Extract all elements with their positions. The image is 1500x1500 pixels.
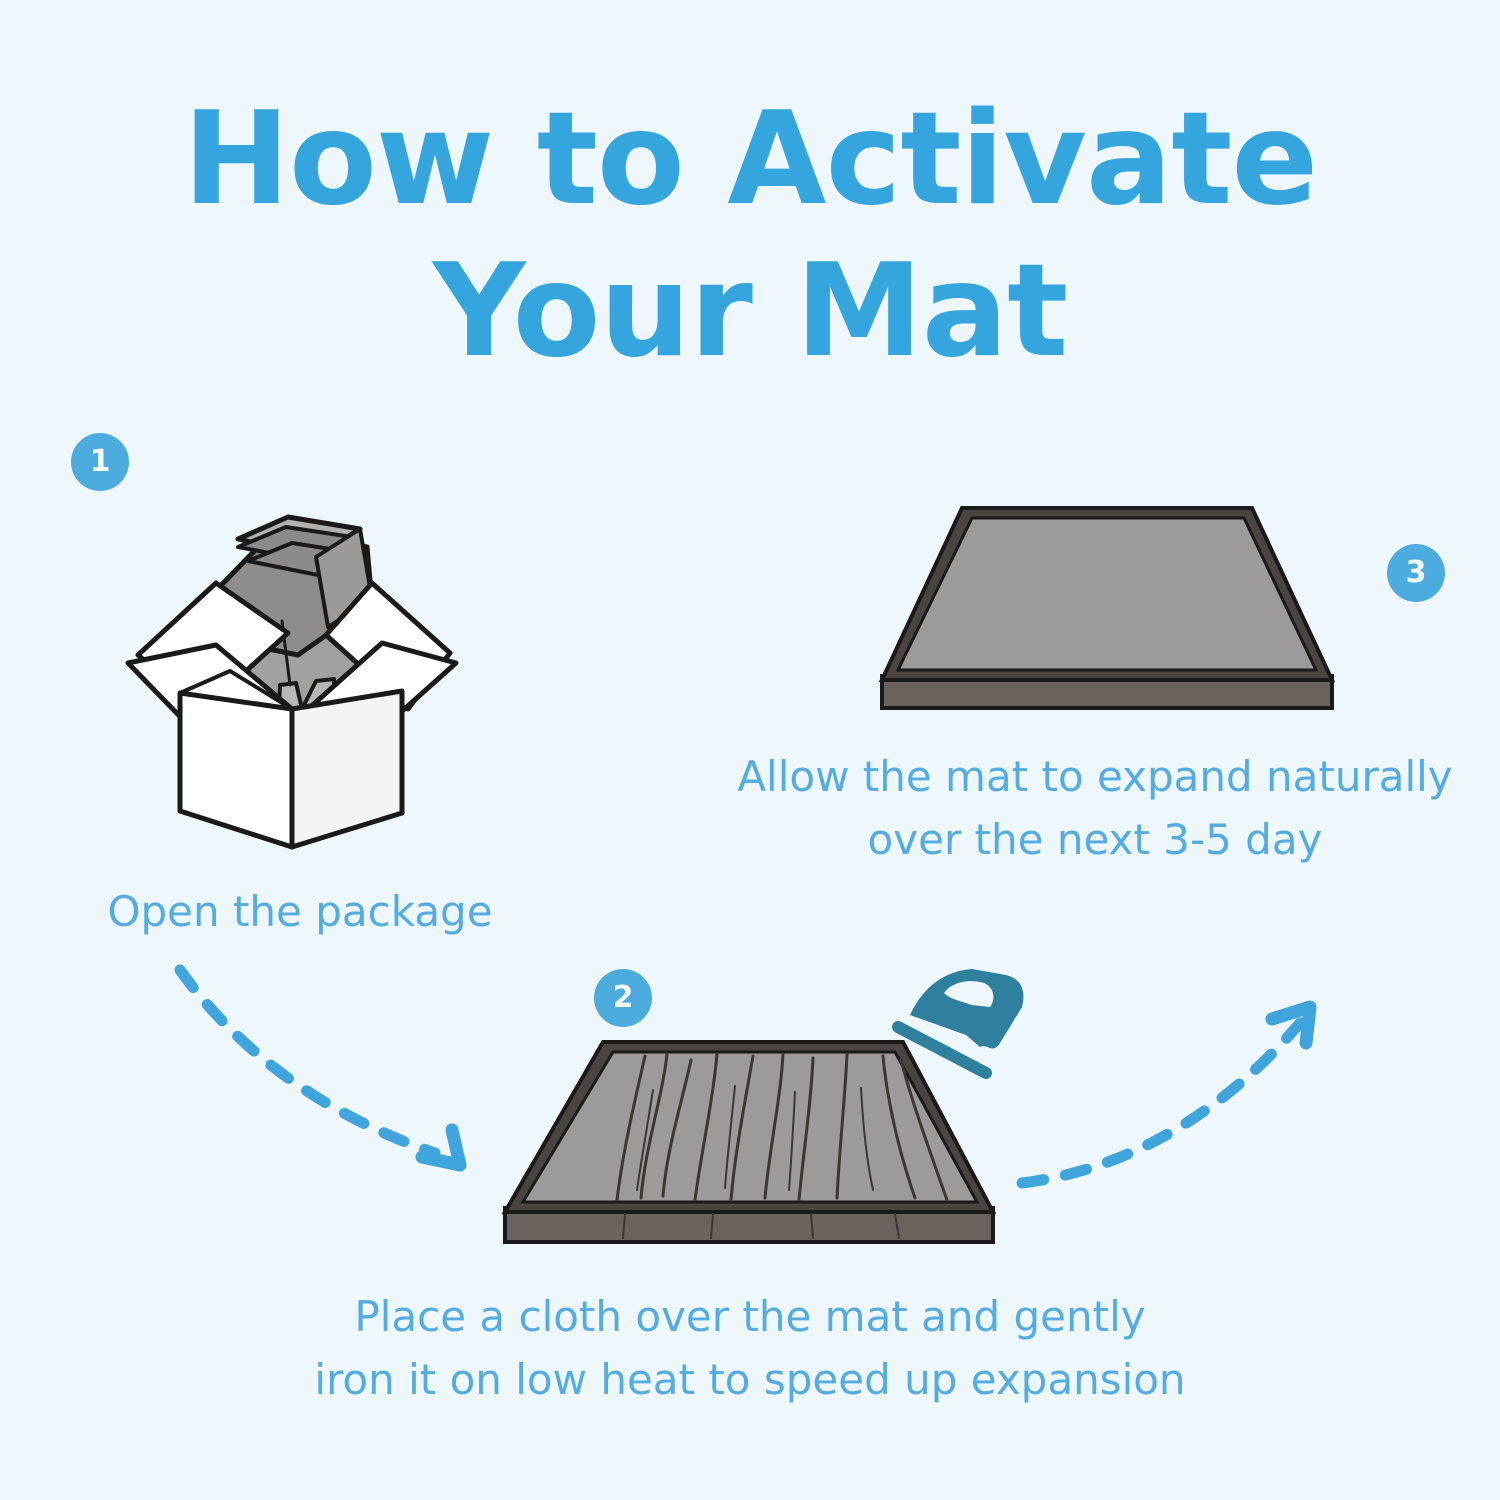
- expanded-mat-illustration: [860, 480, 1360, 750]
- mat-with-cloth-svg: [495, 1030, 1025, 1270]
- step-3-caption: Allow the mat to expand naturally over t…: [700, 745, 1490, 871]
- step-3-caption-line-1: Allow the mat to expand naturally: [700, 745, 1490, 808]
- step-2-caption-line-1: Place a cloth over the mat and gently: [250, 1285, 1250, 1348]
- page-title: How to Activate Your Mat: [0, 84, 1500, 388]
- instruction-infographic: How to Activate Your Mat 1: [0, 0, 1500, 1500]
- dashed-arrow-down-right: [170, 960, 510, 1200]
- step-1-caption: Open the package: [40, 880, 560, 943]
- page-title-line-1: How to Activate: [183, 85, 1317, 234]
- step-3-caption-line-2: over the next 3-5 day: [700, 808, 1490, 871]
- mat-with-cloth-illustration: [495, 1030, 1025, 1270]
- dashed-arrow-down-right-svg: [170, 960, 510, 1200]
- step-2-caption-line-2: iron it on low heat to speed up expansio…: [250, 1348, 1250, 1411]
- step-3-badge: 3: [1387, 544, 1445, 602]
- step-2-caption: Place a cloth over the mat and gently ir…: [250, 1285, 1250, 1411]
- dashed-arrow-up-right: [1010, 995, 1350, 1235]
- step-1-badge: 1: [71, 433, 129, 491]
- step-2-badge: 2: [594, 969, 652, 1027]
- expanded-mat-svg: [860, 480, 1360, 750]
- open-box-svg: [120, 495, 490, 865]
- dashed-arrow-up-right-svg: [1010, 995, 1350, 1235]
- page-title-line-2: Your Mat: [0, 236, 1500, 388]
- box-right-panel: [292, 691, 402, 847]
- open-package-illustration: [120, 495, 490, 865]
- box-left-panel: [180, 693, 292, 847]
